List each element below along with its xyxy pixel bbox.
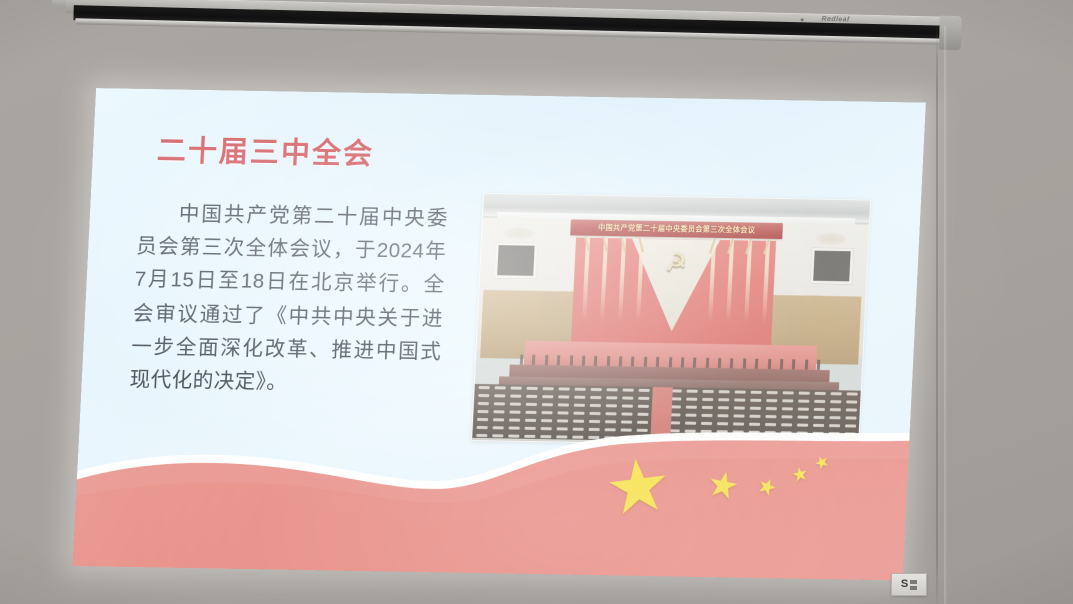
projected-slide: 二十届三中全会 中国共产党第二十届中央委员会第三次全体会议，于2024年7月15… xyxy=(73,88,926,581)
slide-body-text: 中国共产党第二十届中央委员会第三次全体会议，于2024年7月15日至18日在北京… xyxy=(129,197,449,402)
plenary-session-photo: 中国共产党第二十届中央委员会第三次全体会议 xyxy=(471,193,871,448)
hall-window-right xyxy=(810,248,854,285)
photo-inner: 中国共产党第二十届中央委员会第三次全体会议 xyxy=(472,194,870,447)
slide-title: 二十届三中全会 xyxy=(156,127,375,173)
hall-window-left xyxy=(494,242,538,279)
hammer-and-sickle-party-emblem-icon: ☭ xyxy=(660,251,691,278)
projection-screen-housing: Redleaf xyxy=(65,0,946,57)
star-icon-3: ★ xyxy=(753,473,780,501)
star-icon-5: ★ xyxy=(811,451,832,473)
wall-sticker-marks-icon xyxy=(910,580,917,590)
star-icon-4: ★ xyxy=(790,464,810,486)
wall-sticker: S xyxy=(891,573,927,596)
hall-banner-text: 中国共产党第二十届中央委员会第三次全体会议 xyxy=(598,223,756,236)
projector-screen-brand-label: Redleaf xyxy=(821,16,849,24)
wall-seam-highlight xyxy=(944,26,947,604)
housing-right-cap xyxy=(939,16,962,51)
wall-seam xyxy=(936,26,938,604)
classroom-wall-scene: Redleaf 二十届三中全会 中国共产党第二十届中央委员会第三次全体会议，于2… xyxy=(0,0,1073,604)
wall-sticker-label: S xyxy=(901,579,908,590)
slide-canvas: 二十届三中全会 中国共产党第二十届中央委员会第三次全体会议，于2024年7月15… xyxy=(73,88,926,581)
five-star-decoration: ★ ★ ★ ★ ★ xyxy=(599,443,853,533)
brand-dot-icon xyxy=(801,18,804,21)
star-icon-2: ★ xyxy=(703,465,743,507)
star-icon-large: ★ xyxy=(602,446,675,528)
